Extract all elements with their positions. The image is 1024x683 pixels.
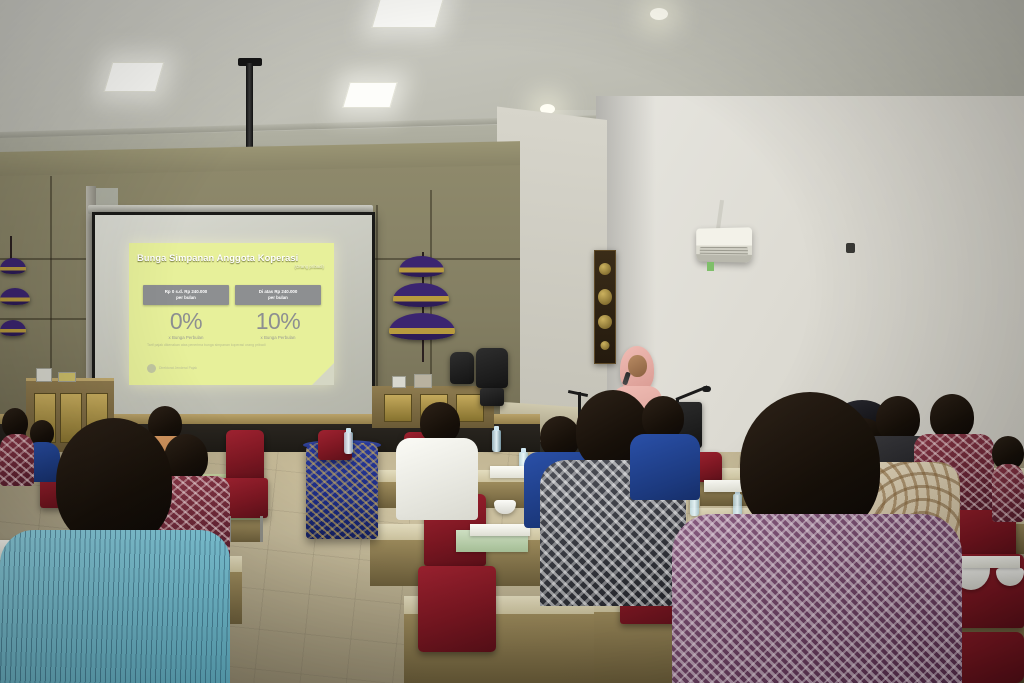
slide-footnote: Tarif pajak dikenakan atas penerima bung…	[147, 343, 267, 348]
slide-bracket-0: Rp 0 s.d. Rp 240.000 per bulan 0% x Bung…	[143, 285, 229, 340]
slide-bracket-label: Di atas Rp 240.000 per bulan	[235, 285, 321, 305]
spot-light-right	[650, 8, 668, 20]
document-paper[interactable]	[470, 524, 530, 536]
projection-screen: Bunga Simpanan Anggota Koperasi (Orang p…	[92, 212, 375, 428]
chair-red-stage-left[interactable]	[226, 430, 264, 482]
attendee-body	[396, 438, 478, 520]
slide-bracket-caption: x Bunga Perbulan	[143, 335, 229, 340]
slide-bracket-1: Di atas Rp 240.000 per bulan 10% x Bunga…	[235, 285, 321, 340]
slide-bracket-rate: 10%	[235, 309, 321, 334]
bracket-label-line2: per bulan	[176, 295, 196, 300]
stage-office-chair-base	[480, 388, 504, 406]
attendee-head	[56, 418, 172, 546]
plaque-medallion-icon	[599, 263, 611, 275]
slide-subtitle: (Orang pribadi)	[294, 264, 324, 269]
attendee-white-shirt	[396, 402, 478, 510]
slide-bracket-label: Rp 0 s.d. Rp 240.000 per bulan	[143, 285, 229, 305]
stage-table-item	[414, 374, 432, 388]
air-conditioner-unit	[696, 227, 752, 262]
seminar-room-photo: Bunga Simpanan Anggota Koperasi (Orang p…	[0, 0, 1024, 683]
plaque-medallion-icon	[598, 315, 612, 329]
attendee-body	[0, 530, 230, 683]
stage-table-item	[392, 376, 406, 388]
lectern-item-box	[36, 368, 52, 382]
ac-green-tag	[707, 262, 714, 271]
panel-light-3	[342, 82, 397, 108]
ornament-tier-left-3	[0, 320, 26, 336]
document-paper[interactable]	[962, 556, 1020, 568]
wall-sensor-icon	[846, 243, 855, 253]
panel-light-1	[371, 0, 444, 28]
ac-vent-louvers	[700, 247, 748, 255]
speaker-face	[628, 355, 647, 377]
presentation-slide: Bunga Simpanan Anggota Koperasi (Orang p…	[129, 243, 334, 385]
plaque-medallion-icon	[598, 289, 612, 305]
projector-pole	[246, 63, 253, 149]
attendee-body	[672, 514, 962, 683]
stage-office-chair[interactable]	[476, 348, 508, 388]
chair-red-center-2[interactable]	[418, 566, 496, 652]
attendee-body	[992, 464, 1024, 522]
bracket-label-line1: Di atas Rp 240.000	[259, 289, 298, 294]
attendee-cyan-shirt	[0, 418, 230, 683]
attendee-right-edge	[992, 436, 1024, 516]
panel-light-2	[104, 62, 165, 92]
water-bottle[interactable]	[492, 430, 501, 452]
chair-leg	[260, 516, 263, 542]
water-bottle[interactable]	[344, 432, 353, 454]
slide-logo-label: Direktorat Jenderal Pajak	[159, 366, 197, 370]
slide-bracket-rate: 0%	[143, 309, 229, 334]
wall-panel-seam	[376, 205, 378, 405]
attendee-purple-batik	[672, 392, 962, 683]
stage-office-chair[interactable]	[450, 352, 474, 384]
ornament-tier-left-2	[0, 288, 30, 305]
slide-logo-icon	[147, 364, 156, 373]
lectern-item-box	[58, 372, 76, 382]
bracket-label-line2: per bulan	[268, 295, 288, 300]
slide-title: Bunga Simpanan Anggota Koperasi	[137, 253, 329, 263]
ornament-tier-left-1	[0, 258, 26, 274]
slide-bracket-caption: x Bunga Perbulan	[235, 335, 321, 340]
bracket-label-line1: Rp 0 s.d. Rp 240.000	[165, 289, 207, 294]
